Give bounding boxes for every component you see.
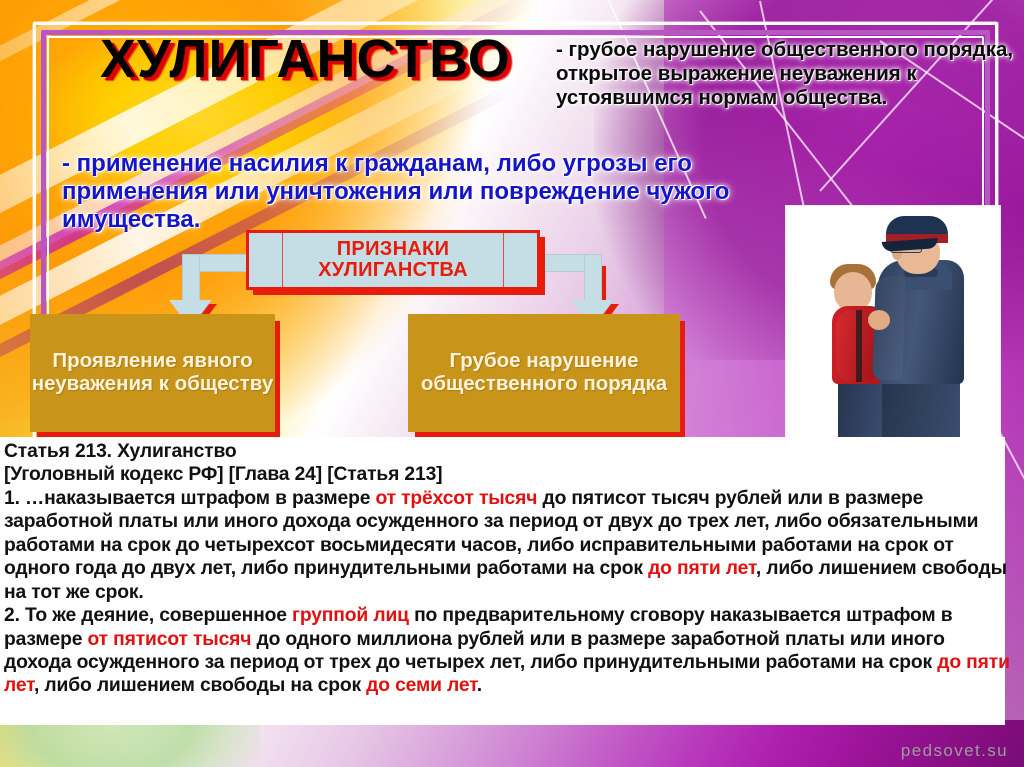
- connector-left-vertical: [182, 254, 200, 304]
- page-title: ХУЛИГАНСТВО: [100, 28, 511, 90]
- node-top-line1: ПРИЗНАКИ: [318, 239, 468, 260]
- diagram-node-top: ПРИЗНАКИ ХУЛИГАНСТВА: [246, 230, 540, 290]
- law-p2-t4: , либо лишением свободы на срок: [34, 675, 366, 696]
- law-part-2: 2. То же деяние, совершенное группой лиц…: [4, 604, 1016, 698]
- boy-legs: [838, 378, 884, 442]
- law-p1-t1: 1. …наказывается штрафом в размере: [4, 488, 375, 509]
- law-text: Статья 213. Хулиганство [Уголовный кодек…: [4, 440, 1016, 698]
- slide-root: ХУЛИГАНСТВО - грубое нарушение обществен…: [0, 0, 1024, 767]
- node-divider: [282, 233, 283, 287]
- law-p2-t5: .: [477, 675, 482, 696]
- node-top-label: ПРИЗНАКИ ХУЛИГАНСТВА: [318, 239, 468, 281]
- officer-hand: [868, 310, 890, 330]
- node-divider: [503, 233, 504, 287]
- law-part-1: 1. …наказывается штрафом в размере от тр…: [4, 487, 1016, 604]
- officer-legs: [882, 374, 960, 442]
- law-p1-highlight-1: от трёхсот тысяч: [375, 488, 537, 509]
- diagram-signs-of-hooliganism: ПРИЗНАКИ ХУЛИГАНСТВА Проявление явного н…: [0, 226, 700, 438]
- law-p2-highlight-2: от пятисот тысяч: [88, 629, 252, 650]
- node-top-line2: ХУЛИГАНСТВА: [318, 260, 468, 281]
- law-heading: Статья 213. Хулиганство: [4, 440, 1016, 463]
- diagram-node-right: Грубое нарушение общественного порядка: [408, 314, 680, 432]
- node-left-label: Проявление явного неуважения к обществу: [30, 350, 275, 395]
- definition-blue: - применение насилия к гражданам, либо у…: [62, 150, 762, 234]
- boy-backpack-stripe: [856, 310, 862, 382]
- node-right-label: Грубое нарушение общественного порядка: [408, 350, 680, 395]
- watermark: pedsovet.su: [901, 741, 1008, 761]
- diagram-node-left: Проявление явного неуважения к обществу: [30, 314, 275, 432]
- law-p2-t1: 2. То же деяние, совершенное: [4, 605, 292, 626]
- law-p2-highlight-4: до семи лет: [366, 675, 477, 696]
- law-p1-highlight-2: до пяти лет: [648, 558, 756, 579]
- law-p2-highlight-1: группой лиц: [292, 605, 409, 626]
- connector-right-vertical: [584, 254, 602, 304]
- photo-police-and-boy: [786, 206, 1000, 442]
- law-source: [Уголовный кодекс РФ] [Глава 24] [Статья…: [4, 463, 1016, 486]
- definition-right: - грубое нарушение общественного порядка…: [556, 38, 1024, 109]
